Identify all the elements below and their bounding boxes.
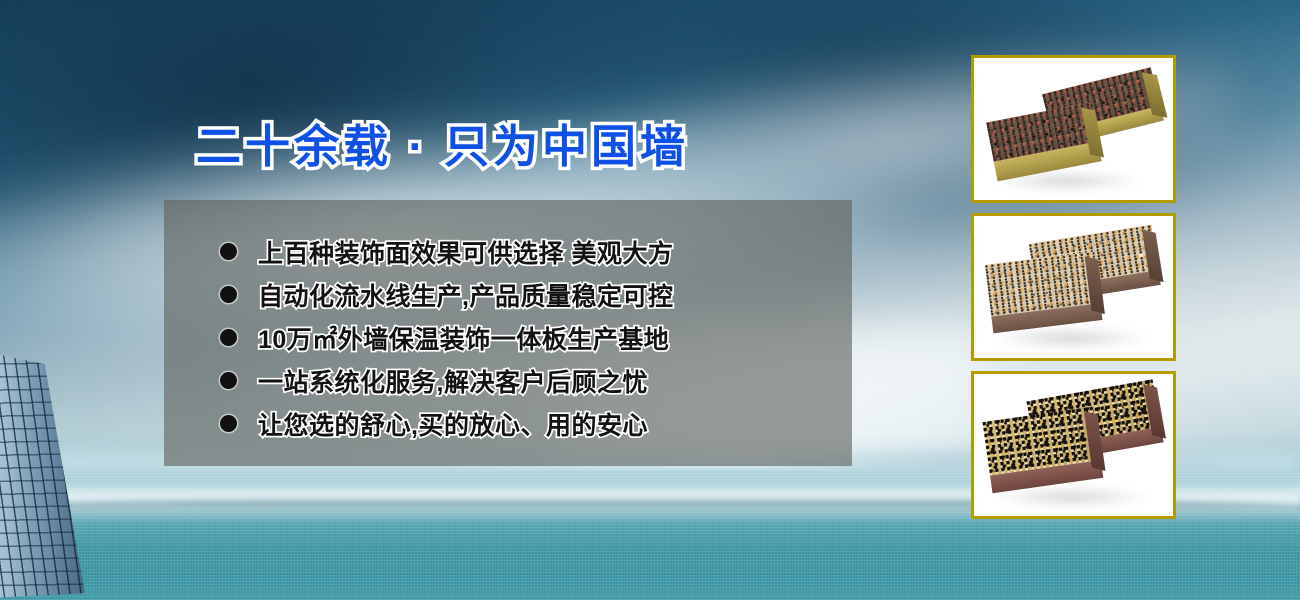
product-frame-2[interactable]: [971, 213, 1176, 361]
beige-speckled-stone-panel-photo: [974, 216, 1173, 358]
list-item-label: 自动化流水线生产,产品质量稳定可控: [258, 277, 673, 313]
list-item: 一站系统化服务,解决客户后顾之忧: [220, 359, 852, 402]
list-item-label: 一站系统化服务,解决客户后顾之忧: [258, 363, 648, 399]
bullet-dot-icon: [220, 372, 237, 389]
bullet-dot-icon: [220, 243, 237, 260]
product-gallery: [971, 55, 1176, 519]
bullet-dot-icon: [220, 415, 237, 432]
yellow-black-speckled-stone-panel-photo: [974, 374, 1173, 516]
feature-list-panel: 上百种装饰面效果可供选择 美观大方 自动化流水线生产,产品质量稳定可控 10万㎡…: [164, 200, 852, 466]
list-item-label: 让您选的舒心,买的放心、用的安心: [258, 406, 648, 442]
promotional-banner: 二十余载 · 只为中国墙 上百种装饰面效果可供选择 美观大方 自动化流水线生产,…: [0, 0, 1300, 600]
product-frame-1[interactable]: [971, 55, 1176, 203]
insulation-panel-lower: [986, 102, 1100, 171]
stone-panel-lower: [983, 406, 1102, 479]
list-item-label: 上百种装饰面效果可供选择 美观大方: [258, 234, 673, 270]
granite-rockwool-insulation-panel-photo: [974, 58, 1173, 200]
bullet-dot-icon: [220, 329, 237, 346]
feature-list: 上百种装饰面效果可供选择 美观大方 自动化流水线生产,产品质量稳定可控 10万㎡…: [164, 200, 852, 466]
stone-panel-lower: [985, 252, 1101, 321]
list-item: 让您选的舒心,买的放心、用的安心: [220, 402, 852, 445]
page-title: 二十余载 · 只为中国墙: [196, 122, 689, 172]
list-item: 自动化流水线生产,产品质量稳定可控: [220, 273, 852, 316]
product-frame-3[interactable]: [971, 371, 1176, 519]
list-item-label: 10万㎡外墙保温装饰一体板生产基地: [258, 320, 669, 356]
bullet-dot-icon: [220, 286, 237, 303]
list-item: 10万㎡外墙保温装饰一体板生产基地: [220, 316, 852, 359]
list-item: 上百种装饰面效果可供选择 美观大方: [220, 230, 852, 273]
